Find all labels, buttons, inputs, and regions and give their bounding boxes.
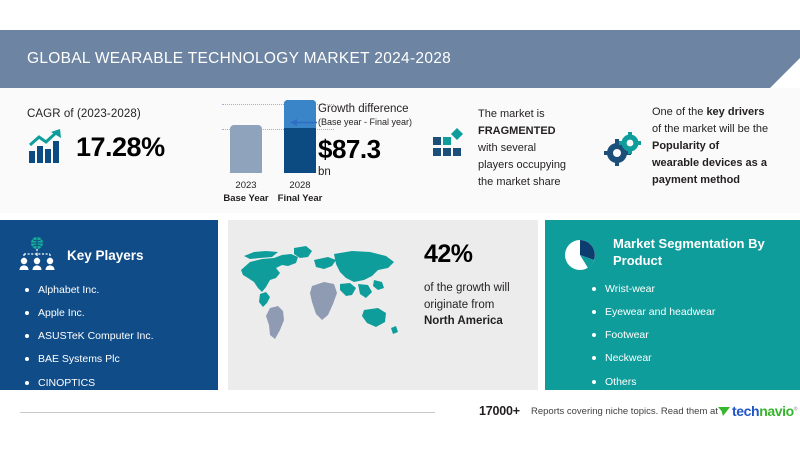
growth-bar-chart-icon [27,129,67,165]
segmentation-title: Market Segmentation By Product [613,236,773,270]
fragmented-text: The market is FRAGMENTED with several pl… [478,106,566,191]
growth-value: $87.3 [318,136,443,162]
region-desc-line2: originate from [424,299,494,311]
bar-final-year [284,100,316,173]
region-description: of the growth will originate from North … [424,280,532,330]
region-desc-line1: of the growth will [424,282,510,294]
drivers-line2: of the market will be the [652,123,768,135]
bar-base-year-caption: Base Year [217,193,275,206]
gears-icon [604,132,642,166]
bar-base-year [230,125,262,173]
technavio-arrow-icon [718,405,731,418]
list-item: ASUSTeK Computer Inc. [24,330,218,343]
footer-divider [20,412,435,413]
bar-label-final: 2028 Final Year [271,180,329,206]
cagr-value: 17.28% [76,134,165,161]
org-network-globe-icon [18,236,56,274]
upper-stats-band: CAGR of (2023-2028) 17.28% [0,88,800,213]
market-segmentation-panel: Market Segmentation By Product Wrist-wea… [545,220,800,390]
header-banner: GLOBAL WEARABLE TECHNOLOGY MARKET 2024-2… [0,30,800,88]
list-item: Eyewear and headwear [591,306,800,319]
page-title: GLOBAL WEARABLE TECHNOLOGY MARKET 2024-2… [0,50,451,68]
bar-base-year-number: 2023 [235,180,256,191]
region-percent: 42% [424,242,532,267]
logo-text-tech: tech [732,403,759,419]
growth-subtitle: (Base year - Final year) [318,117,443,129]
key-drivers-block: One of the key drivers of the market wil… [604,104,794,189]
list-item: Others [591,376,800,389]
reports-count: 17000+ [479,404,520,418]
trademark-mark: ® [794,406,797,412]
fragmented-line2: with several [478,142,536,154]
growth-unit: bn [318,166,443,178]
list-item: CINOPTICS [24,377,218,390]
pie-chart-icon [563,236,601,274]
list-item: Neckwear [591,352,800,365]
technavio-logo[interactable]: technavio® [718,403,797,419]
fragmented-line3: players occupying [478,159,566,171]
growth-difference-block: Growth difference (Base year - Final yea… [318,102,443,178]
fragmented-bold: FRAGMENTED [478,125,556,137]
list-item: Wrist-wear [591,283,800,296]
cagr-label: CAGR of (2023-2028) [27,108,212,120]
footer: 17000+ Reports covering niche topics. Re… [0,396,800,428]
key-players-list: Alphabet Inc. Apple Inc. ASUSTeK Compute… [24,284,218,390]
bar-final-year-number: 2028 [289,180,310,191]
logo-text-navio: navio [759,403,794,419]
drivers-bold3: wearable devices as a [652,157,767,169]
region-name: North America [424,315,503,327]
fragmented-line4: the market share [478,176,561,188]
drivers-bold4: payment method [652,174,740,186]
fragmented-line1: The market is [478,108,545,120]
market-fragmented-block: The market is FRAGMENTED with several pl… [432,106,607,191]
cagr-block: CAGR of (2023-2028) 17.28% [27,108,212,165]
middle-band: Key Players Alphabet Inc. Apple Inc. ASU… [0,213,800,396]
world-map-icon [236,240,416,350]
key-drivers-text: One of the key drivers of the market wil… [652,104,768,189]
drivers-bold2: Popularity of [652,140,719,152]
left-arrow-icon [290,118,318,127]
infographic-page: GLOBAL WEARABLE TECHNOLOGY MARKET 2024-2… [0,0,800,450]
bar-final-year-caption: Final Year [271,193,329,206]
squares-diamond-icon [432,128,466,162]
footer-tagline: Reports covering niche topics. Read them… [531,406,718,417]
bar-label-base: 2023 Base Year [217,180,275,206]
list-item: BAE Systems Plc [24,353,218,366]
key-players-panel: Key Players Alphabet Inc. Apple Inc. ASU… [0,220,218,390]
list-item: Apple Inc. [24,307,218,320]
region-growth-panel: 42% of the growth will originate from No… [228,220,538,390]
drivers-line1b: key drivers [706,106,764,118]
drivers-line1a: One of the [652,106,706,118]
key-players-title: Key Players [67,248,144,263]
growth-title: Growth difference [318,102,443,116]
segmentation-header: Market Segmentation By Product [545,220,800,274]
segmentation-list: Wrist-wear Eyewear and headwear Footwear… [591,283,800,389]
list-item: Alphabet Inc. [24,284,218,297]
key-players-header: Key Players [0,220,218,274]
region-growth-text: 42% of the growth will originate from No… [424,242,532,330]
list-item: Footwear [591,329,800,342]
